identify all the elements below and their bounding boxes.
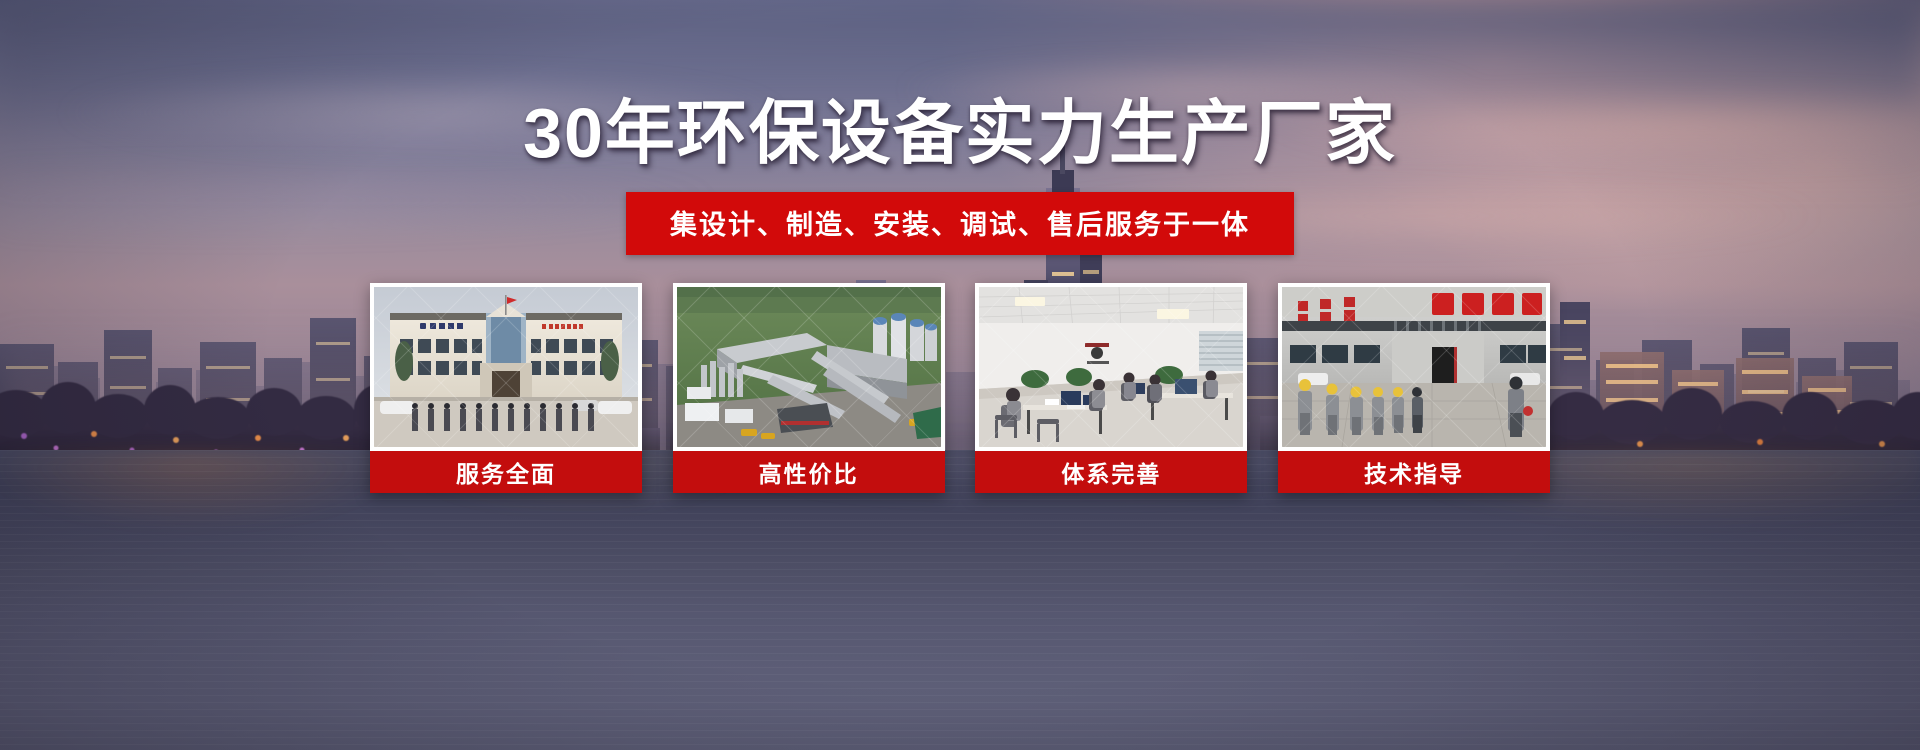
headline: 30年环保设备实力生产厂家 <box>0 98 1920 168</box>
feature-card[interactable]: 体系完善 <box>975 283 1247 493</box>
feature-card[interactable]: 服务全面 <box>370 283 642 493</box>
subtitle-banner: 集设计、制造、安装、调试、售后服务于一体 <box>0 192 1920 255</box>
card-caption: 体系完善 <box>975 451 1247 493</box>
card-caption: 高性价比 <box>673 451 945 493</box>
feature-card[interactable]: 高性价比 <box>673 283 945 493</box>
card-photo-workshop <box>1282 287 1546 447</box>
card-caption: 技术指导 <box>1278 451 1550 493</box>
subtitle-text: 集设计、制造、安装、调试、售后服务于一体 <box>626 192 1294 255</box>
card-photo-plant <box>677 287 941 447</box>
feature-card[interactable]: 技术指导 <box>1278 283 1550 493</box>
card-photo-office <box>979 287 1243 447</box>
water-shimmer <box>0 450 1920 750</box>
card-caption: 服务全面 <box>370 451 642 493</box>
headline-text: 30年环保设备实力生产厂家 <box>523 98 1397 168</box>
feature-card-row: 服务全面 <box>370 283 1550 493</box>
river-water <box>0 450 1920 750</box>
hero-banner: 30年环保设备实力生产厂家 集设计、制造、安装、调试、售后服务于一体 <box>0 0 1920 750</box>
card-photo-headquarters <box>374 287 638 447</box>
